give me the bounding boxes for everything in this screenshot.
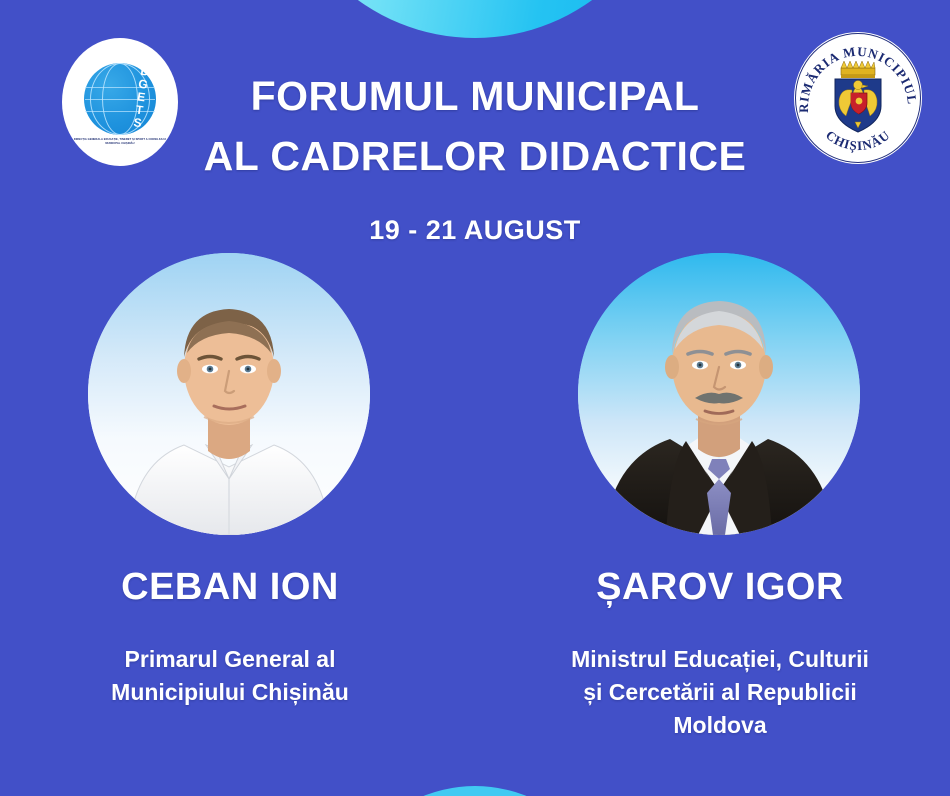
role-line: Moldova [500,709,940,742]
poster-title: FORUMUL MUNICIPAL AL CADRELOR DIDACTICE [0,66,950,186]
top-arc-decoration [278,0,673,38]
portrait-ceban-ion [88,253,370,535]
person-role-sarov-igor: Ministrul Educației, Culturii și Cercetă… [500,643,940,742]
bottom-arc-decoration [310,786,640,796]
portrait-left-illustration [88,253,370,535]
portrait-sarov-igor [578,253,860,535]
role-line: Municipiului Chișinău [10,676,450,709]
role-line: Primarul General al [10,643,450,676]
title-line-1: FORUMUL MUNICIPAL [0,66,950,126]
role-line: Ministrul Educației, Culturii [500,643,940,676]
person-name-ceban-ion: CEBAN ION [10,566,450,609]
title-line-2: AL CADRELOR DIDACTICE [0,126,950,186]
portrait-right-illustration [578,253,860,535]
role-line: și Cercetării al Republicii [500,676,940,709]
event-poster: DGETS DIRECȚIA GENERALĂ EDUCAȚIE, TINERE… [0,0,950,796]
person-name-sarov-igor: ȘAROV IGOR [500,566,940,609]
event-date: 19 - 21 AUGUST [0,215,950,246]
person-role-ceban-ion: Primarul General al Municipiului Chișină… [10,643,450,709]
